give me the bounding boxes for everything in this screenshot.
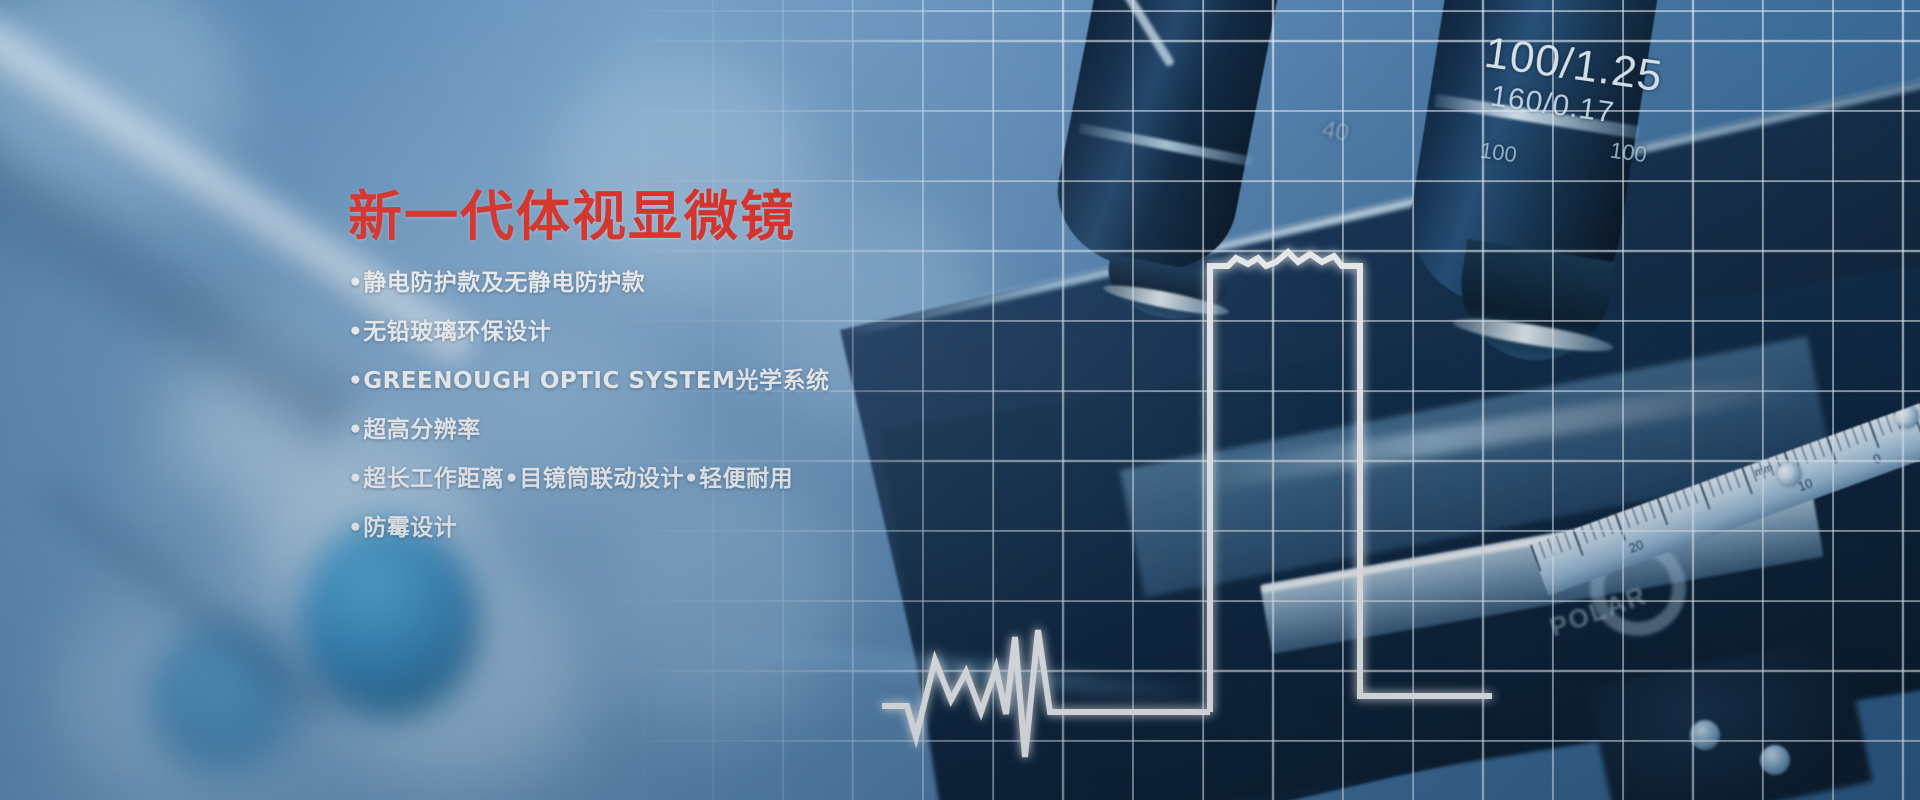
- objective-right-ring-label-right: 100: [1608, 138, 1648, 169]
- page-title: 新一代体视显微镜: [348, 190, 1088, 244]
- list-item: •超高分辨率: [348, 419, 1088, 442]
- banner-copy: 新一代体视显微镜 •静电防护款及无静电防护款 •无铅玻璃环保设计 •GREENO…: [348, 190, 1088, 540]
- hero-banner: POLAR 20 10 0 mm 40 100/1.25 160/0.17 10…: [0, 0, 1920, 800]
- list-item: •超长工作距离•目镜筒联动设计•轻便耐用: [348, 468, 1088, 491]
- list-item: •无铅玻璃环保设计: [348, 321, 1088, 344]
- stage-knob-screw: [1760, 745, 1790, 775]
- ruler-tick-label: 20: [1627, 537, 1646, 556]
- objective-right-ring-label-left: 100: [1478, 138, 1518, 169]
- ruler-tick-label: 0: [1871, 450, 1883, 467]
- list-item: •防霉设计: [348, 517, 1088, 540]
- feature-list: •静电防护款及无静电防护款 •无铅玻璃环保设计 •GREENOUGH OPTIC…: [348, 272, 1088, 540]
- list-item: •GREENOUGH OPTIC SYSTEM光学系统: [348, 370, 1088, 393]
- stage-knob-screw: [1690, 720, 1720, 750]
- objective-left-magnification-label: 40: [1320, 116, 1351, 148]
- list-item: •静电防护款及无静电防护款: [348, 272, 1088, 295]
